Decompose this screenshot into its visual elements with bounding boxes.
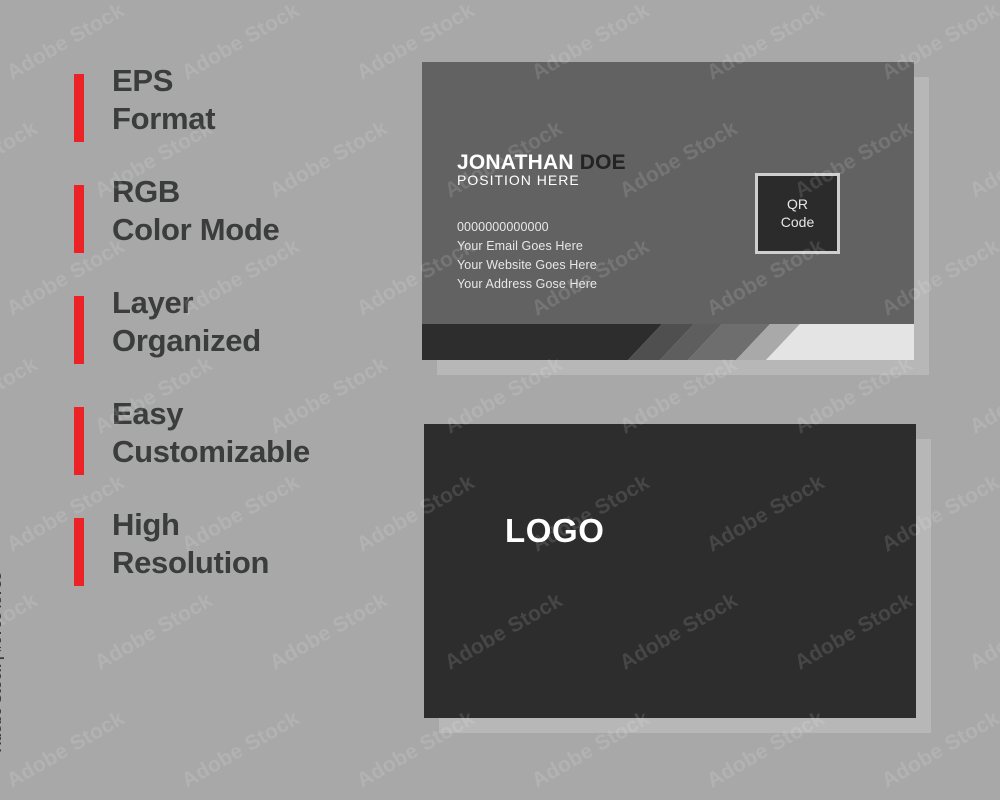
logo-placeholder: LOGO [505,512,605,550]
feature-label-line1: Layer [112,285,193,320]
feature-item-high-resolution: High Resolution [74,506,404,586]
feature-list: EPS Format RGB Color Mode Layer Organize… [74,62,404,617]
business-card-front[interactable]: JONATHAN DOE POSITION HERE 0000000000000… [422,62,914,360]
feature-accent-bar-icon [74,296,84,364]
feature-label: Easy Customizable [112,395,310,471]
feature-label: Layer Organized [112,284,261,360]
feature-label: High Resolution [112,506,269,582]
card-contact-website: Your Website Goes Here [457,256,597,275]
card-contact-email: Your Email Goes Here [457,237,597,256]
qr-code-placeholder-icon: QR Code [755,173,840,254]
card-name-first: JONATHAN [457,151,574,174]
card-front-diagonal-band [422,324,914,360]
feature-label-line2: Customizable [112,433,310,471]
feature-label-line1: RGB [112,174,180,209]
feature-item-layer-organized: Layer Organized [74,284,404,364]
feature-label-line1: High [112,507,180,542]
card-name-last: DOE [580,151,626,174]
card-contact-address: Your Address Gose Here [457,275,597,294]
feature-label: EPS Format [112,62,215,138]
band-stripe-1 [422,324,662,360]
mockup-canvas: EPS Format RGB Color Mode Layer Organize… [0,0,1000,800]
watermark-text: Adobe Stock [0,117,42,204]
card-contact-block: 0000000000000 Your Email Goes Here Your … [457,218,597,294]
qr-label-line1: QR [787,196,808,214]
feature-label-line2: Organized [112,322,261,360]
watermark-text: Adobe Stock [966,589,1000,676]
feature-item-rgb-color-mode: RGB Color Mode [74,173,404,253]
business-card-back[interactable]: LOGO [424,424,916,718]
feature-item-eps-format: EPS Format [74,62,404,142]
feature-accent-bar-icon [74,74,84,142]
feature-label-line2: Color Mode [112,211,280,249]
feature-label: RGB Color Mode [112,173,280,249]
feature-accent-bar-icon [74,518,84,586]
watermark-text: Adobe Stock [178,707,304,794]
watermark-text: Adobe Stock [966,117,1000,204]
feature-item-easy-customizable: Easy Customizable [74,395,404,475]
card-contact-phone: 0000000000000 [457,218,597,237]
watermark-text: Adobe Stock [0,353,42,440]
feature-label-line2: Resolution [112,544,269,582]
feature-accent-bar-icon [74,185,84,253]
feature-accent-bar-icon [74,407,84,475]
stock-credit-label: Adobe Stock | #975343788 [0,572,4,752]
feature-label-line2: Format [112,100,215,138]
feature-label-line1: EPS [112,63,173,98]
card-holder-position: POSITION HERE [457,172,580,188]
watermark-text: Adobe Stock [0,589,42,676]
watermark-text: Adobe Stock [3,707,129,794]
feature-label-line1: Easy [112,396,183,431]
watermark-text: Adobe Stock [966,353,1000,440]
qr-label-line2: Code [781,214,814,232]
